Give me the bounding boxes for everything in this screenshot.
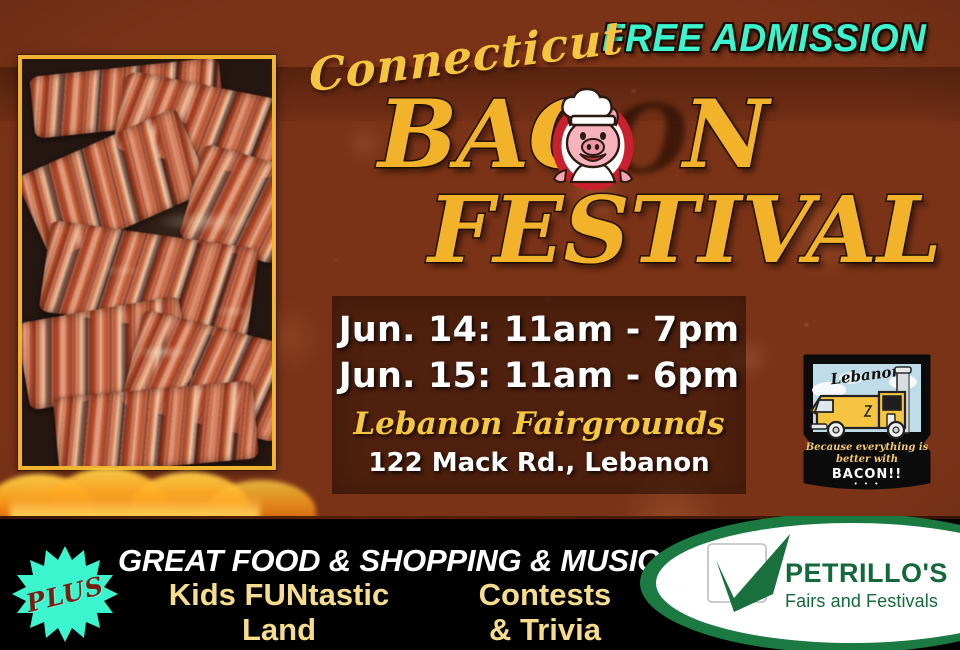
event-date-line-1: Jun. 14: 11am - 7pm [332, 310, 746, 350]
plus-starburst-badge: PLUS [12, 544, 118, 644]
petrillos-wordmark: PETRILLO'S Fairs and Festivals [785, 560, 948, 613]
badge-tagline-line-2: better with [836, 454, 898, 465]
poster-canvas: FREE ADMISSION Connecticut BACON FESTIVA… [0, 0, 960, 650]
lebanon-food-truck-badge: Lebanon Because everything is better wit… [791, 338, 943, 490]
pig-chef-mascot-icon [540, 78, 646, 190]
bacon-photo-frame [18, 55, 276, 470]
event-address: 122 Mack Rd., Lebanon [332, 448, 746, 478]
bacon-photo [22, 59, 272, 466]
sponsor-tagline: Fairs and Festivals [785, 590, 948, 613]
title-word-festival: FESTIVAL [428, 184, 942, 276]
badge-dots: • • • [854, 480, 881, 488]
title-bacon-part2: N [683, 80, 768, 190]
sponsor-name: PETRILLO'S [785, 560, 948, 587]
event-venue: Lebanon Fairgrounds [332, 406, 746, 442]
event-date-line-2: Jun. 15: 11am - 6pm [332, 356, 746, 396]
feature-contests-trivia: Contests & Trivia [430, 578, 660, 647]
feature-kids-funtastic-land: Kids FUNtastic Land [134, 578, 424, 647]
grease-highlights [22, 59, 272, 466]
event-details-panel: Jun. 14: 11am - 7pm Jun. 15: 11am - 6pm … [332, 296, 746, 494]
petrillos-logo[interactable]: PETRILLO'S Fairs and Festivals [630, 516, 960, 650]
badge-tagline-line-1: Because everything is [805, 442, 929, 453]
bottom-headline: GREAT FOOD & SHOPPING & MUSIC [118, 543, 659, 579]
